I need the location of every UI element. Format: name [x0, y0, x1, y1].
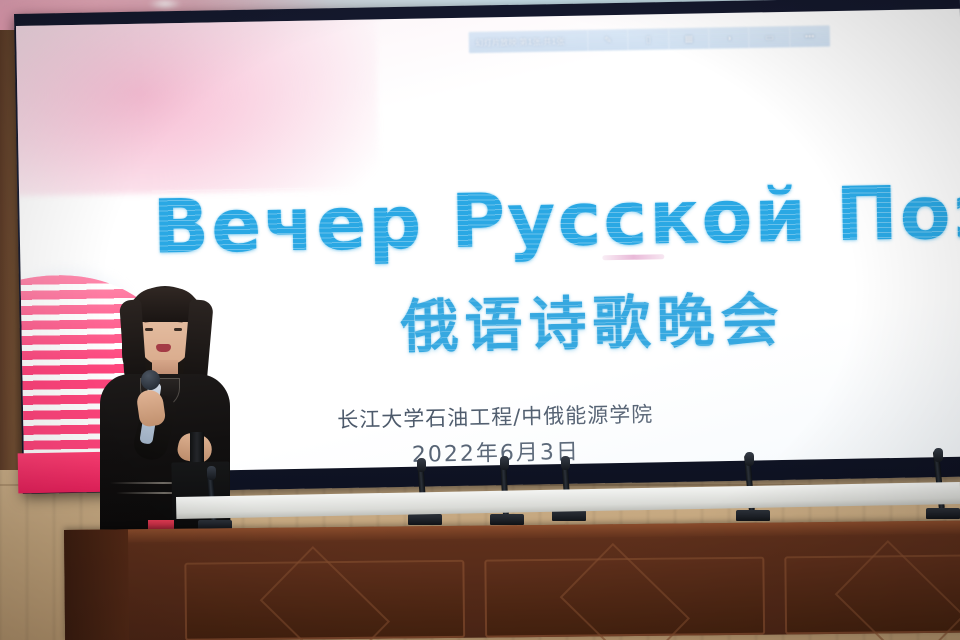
microphone-capsule	[500, 456, 509, 470]
microphone-capsule	[417, 458, 426, 472]
pen-icon[interactable]: ✎	[587, 30, 628, 51]
conference-podium	[64, 521, 960, 640]
grid-icon[interactable]: ▦	[668, 28, 709, 49]
more-options-icon[interactable]: •••	[789, 26, 830, 47]
microphone-base	[736, 510, 770, 521]
photo-scene: Вечер Русской Поэ 俄语诗歌晚会 长江大学石油工程/中俄能源学院…	[0, 0, 960, 640]
podium-panel-center	[484, 557, 765, 638]
microphone-capsule	[745, 452, 754, 466]
microphone-base	[490, 514, 524, 525]
microphone-capsule	[207, 466, 216, 480]
zoom-icon[interactable]: ◑	[708, 28, 749, 49]
microphone-capsule	[561, 456, 570, 470]
presenter-eye-left	[145, 328, 153, 331]
microphone-capsule	[934, 448, 943, 462]
podium-panel-right	[784, 554, 960, 634]
presenter-mouth	[156, 344, 171, 352]
microphone-base	[926, 508, 960, 519]
podium-diamond-inlay	[260, 546, 390, 640]
presenter-eye-right	[174, 328, 182, 331]
podium-diamond-inlay	[835, 540, 960, 640]
podium-diamond-inlay	[560, 543, 690, 640]
microphone-base	[408, 514, 442, 525]
toolbar-slide-counter-label: 幻灯片放映 第1张,共1张	[469, 31, 587, 53]
podium-panel-left	[184, 560, 465, 640]
pointer-icon[interactable]: ▯	[628, 29, 669, 50]
podium-left-side	[64, 529, 129, 640]
menu-icon[interactable]: ▭	[748, 27, 789, 48]
